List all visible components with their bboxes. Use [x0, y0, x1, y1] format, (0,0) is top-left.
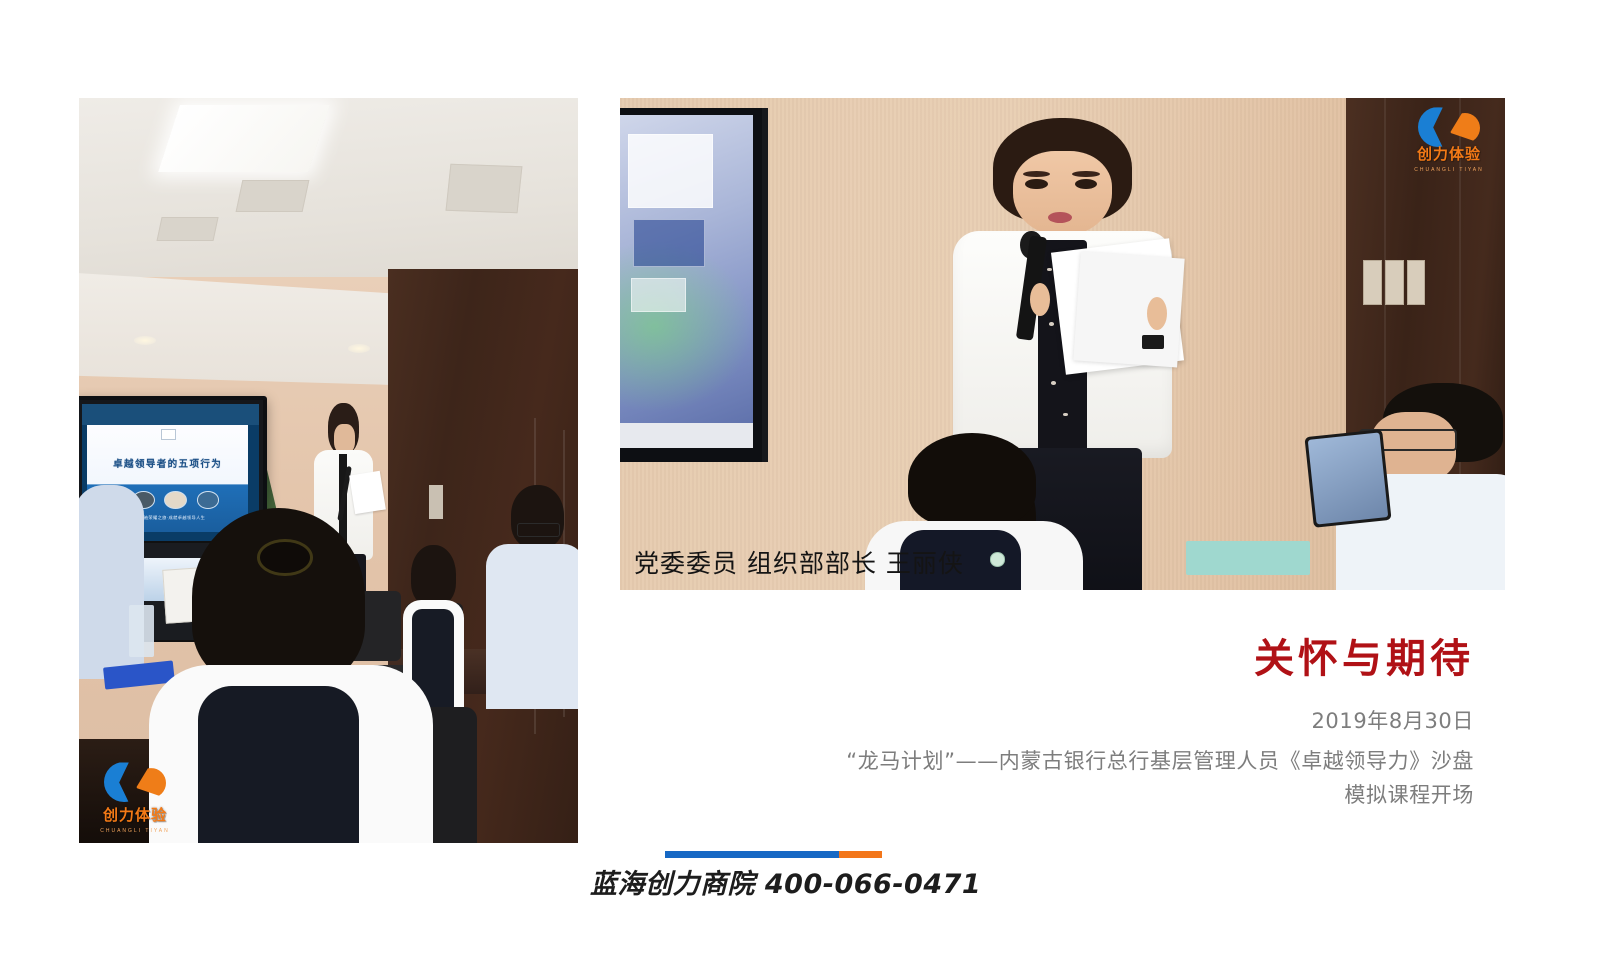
attendee-shirt — [486, 544, 578, 709]
speaker-face — [1013, 151, 1112, 236]
wristwatch — [1142, 335, 1164, 349]
outlet-plate — [1363, 260, 1382, 304]
logo-mark-icon — [1418, 107, 1480, 147]
seated-attendee — [488, 485, 578, 709]
photo-classroom-wide[interactable]: 卓越领导者的五项行为 创想领袖荣耀之旅·成就卓越领导人生 — [79, 98, 578, 843]
attendee-with-phone — [1328, 383, 1505, 590]
logo-orange-crescent-icon — [1450, 113, 1480, 143]
watermark-chuangli-logo: 创力体验 CHUANGLI TIYAN — [89, 761, 181, 835]
hair-tie — [260, 542, 310, 573]
pattern-dot — [1049, 322, 1054, 326]
speaker-eyebrow — [1023, 171, 1050, 177]
speaker-hand — [1147, 297, 1167, 330]
logo-mark-icon — [104, 762, 166, 802]
attendee-hair — [192, 508, 365, 686]
smartphone-icon — [1304, 429, 1391, 528]
brand-bar-orange-segment — [839, 851, 882, 858]
attendee-hair — [511, 485, 564, 548]
footer-brand-and-phone: 蓝海创力商院 400-066-0471 — [590, 862, 990, 901]
display-bezel-bar — [620, 423, 753, 448]
slide-logo-icon — [161, 429, 176, 441]
logo-orange-crescent-icon — [136, 768, 166, 798]
slide-title: 卓越领导者的五项行为 — [87, 456, 248, 470]
brand-accent-bar — [665, 851, 882, 858]
outlet-plate — [1385, 260, 1404, 304]
desktop-window — [631, 278, 686, 313]
speaker-hand — [1030, 283, 1050, 316]
event-subtitle-line1: “龙马计划”——内蒙古银行总行基层管理人员《卓越领导力》沙盘 — [794, 744, 1474, 778]
display-toolbar — [82, 404, 259, 425]
desk-item — [1186, 541, 1310, 575]
downlight — [348, 344, 370, 353]
ceiling-light — [158, 105, 329, 172]
title-text-block: 关怀与期待 2019年8月30日 “龙马计划”——内蒙古银行总行基层管理人员《卓… — [794, 636, 1474, 812]
pattern-dot — [1047, 268, 1052, 272]
logo-blue-crescent-icon — [1418, 107, 1458, 147]
desktop-window — [628, 134, 713, 208]
pattern-dot — [1063, 413, 1068, 417]
page-title: 关怀与期待 — [794, 636, 1474, 682]
watermark-text: 创力体验 — [1407, 143, 1491, 164]
photo-caption: 党委委员 组织部部长 王丽侠 — [634, 544, 964, 580]
slide-canvas: 卓越领导者的五项行为 创想领袖荣耀之旅·成就卓越领导人生 — [0, 0, 1600, 960]
watermark-subtext: CHUANGLI TIYAN — [1407, 167, 1491, 173]
watermark-chuangli-logo: 创力体验 CHUANGLI TIYAN — [1407, 106, 1491, 174]
speech-paper — [1074, 251, 1185, 367]
desktop-window — [633, 219, 704, 267]
wall-outlets — [1363, 260, 1425, 304]
photo-speaker-portrait[interactable]: 党委委员 组织部部长 王丽侠 创力体验 CHUANGLI TIYAN — [620, 98, 1505, 590]
pattern-dot — [1051, 381, 1056, 385]
foreground-attendee — [149, 508, 458, 843]
slide-thumb — [164, 491, 187, 509]
watermark-subtext: CHUANGLI TIYAN — [89, 828, 181, 834]
slide-thumb — [197, 491, 220, 509]
speaker-eyebrow — [1072, 171, 1099, 177]
event-date: 2019年8月30日 — [794, 704, 1474, 738]
event-subtitle-line2: 模拟课程开场 — [794, 778, 1474, 812]
outlet-plate — [1407, 260, 1426, 304]
ceiling-vent — [156, 217, 218, 241]
brand-bar-blue-segment — [665, 851, 839, 858]
attendee-hair — [908, 433, 1036, 527]
name-badge — [990, 552, 1006, 567]
presentation-display — [620, 108, 768, 462]
ceiling-vent — [446, 164, 523, 213]
glasses-icon — [517, 523, 561, 536]
ceiling-vent — [235, 180, 309, 212]
watermark-text: 创力体验 — [89, 804, 181, 825]
display-screen — [620, 115, 753, 441]
logo-blue-crescent-icon — [104, 762, 144, 802]
attendee-vest — [198, 686, 359, 843]
